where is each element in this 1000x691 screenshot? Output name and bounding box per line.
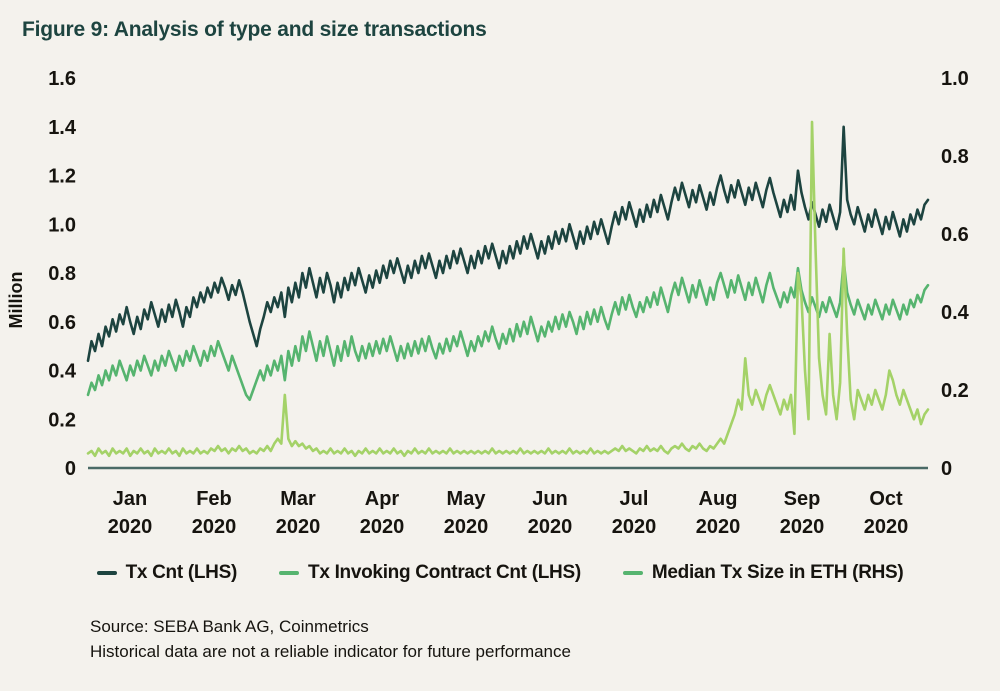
y-axis-right-tick-label: 1.0 (941, 68, 969, 90)
x-axis-ticks: Jan2020Feb2020Mar2020Apr2020May2020Jun20… (108, 488, 909, 538)
source-note: Source: SEBA Bank AG, Coinmetrics Histor… (90, 615, 571, 664)
x-axis-tick-month: Aug (699, 488, 738, 510)
x-axis-tick-year: 2020 (360, 516, 405, 538)
legend-swatch-icon (97, 571, 117, 575)
y-axis-left-tick-label: 1.6 (48, 68, 76, 90)
legend-tx-cnt[interactable]: Tx Cnt (LHS) (97, 562, 237, 584)
y-axis-left-tick-label: 1.4 (48, 117, 77, 139)
y-axis-right-tick-label: 0.8 (941, 146, 969, 168)
y-axis-left-tick-label: 1.2 (48, 166, 76, 188)
y-axis-right-tick-label: 0.6 (941, 224, 969, 246)
x-axis-tick-month: Oct (869, 488, 903, 510)
legend-tx-invoking-contract[interactable]: Tx Invoking Contract Cnt (LHS) (279, 562, 581, 584)
y-axis-right-tick-label: 0.4 (941, 302, 970, 324)
y-axis-left-tick-label: 1.0 (48, 214, 76, 236)
x-axis-tick-month: Mar (280, 488, 316, 510)
x-axis-tick-year: 2020 (612, 516, 657, 538)
legend-label: Median Tx Size in ETH (RHS) (652, 562, 904, 584)
y-axis-left-tick-label: 0.6 (48, 312, 76, 334)
chart-svg: 00.20.40.60.81.01.21.41.6 00.20.40.60.81… (0, 60, 1000, 550)
x-axis-tick-month: Jan (113, 488, 147, 510)
x-axis-tick-month: Apr (365, 488, 400, 510)
x-axis-tick-year: 2020 (864, 516, 909, 538)
page-title: Figure 9: Analysis of type and size tran… (22, 18, 487, 42)
x-axis-tick-year: 2020 (696, 516, 741, 538)
chart-legend: Tx Cnt (LHS)Tx Invoking Contract Cnt (LH… (0, 562, 1000, 584)
x-axis-tick-month: Jun (532, 488, 568, 510)
x-axis-tick-year: 2020 (528, 516, 573, 538)
x-axis-tick-month: Jul (620, 488, 649, 510)
y-axis-right-tick-label: 0 (941, 458, 952, 480)
x-axis-tick-year: 2020 (276, 516, 321, 538)
y-axis-left-tick-label: 0.4 (48, 361, 77, 383)
y-axis-right-ticks: 00.20.40.60.81.0 (941, 68, 970, 480)
y-axis-left-tick-label: 0.8 (48, 263, 76, 285)
x-axis-tick-month: May (447, 488, 487, 510)
x-axis-tick-year: 2020 (108, 516, 153, 538)
y-axis-left-ticks: 00.20.40.60.81.01.21.41.6 (48, 68, 77, 480)
legend-median-tx-size[interactable]: Median Tx Size in ETH (RHS) (623, 562, 904, 584)
y-axis-left-tick-label: 0.2 (48, 409, 76, 431)
x-axis-tick-month: Sep (784, 488, 821, 510)
x-axis-tick-year: 2020 (444, 516, 489, 538)
legend-swatch-icon (623, 571, 643, 575)
y-axis-left-title: Million (6, 272, 26, 329)
chart-area: 00.20.40.60.81.01.21.41.6 00.20.40.60.81… (0, 60, 1000, 550)
legend-label: Tx Cnt (LHS) (126, 562, 237, 584)
y-axis-left-tick-label: 0 (65, 458, 76, 480)
chart-series-group (88, 122, 928, 456)
x-axis-tick-month: Feb (196, 488, 232, 510)
x-axis-tick-year: 2020 (192, 516, 237, 538)
source-line-1: Source: SEBA Bank AG, Coinmetrics (90, 615, 571, 640)
x-axis-tick-year: 2020 (780, 516, 825, 538)
y-axis-right-tick-label: 0.2 (941, 380, 969, 402)
legend-swatch-icon (279, 571, 299, 575)
legend-label: Tx Invoking Contract Cnt (LHS) (308, 562, 581, 584)
source-line-2: Historical data are not a reliable indic… (90, 640, 571, 665)
